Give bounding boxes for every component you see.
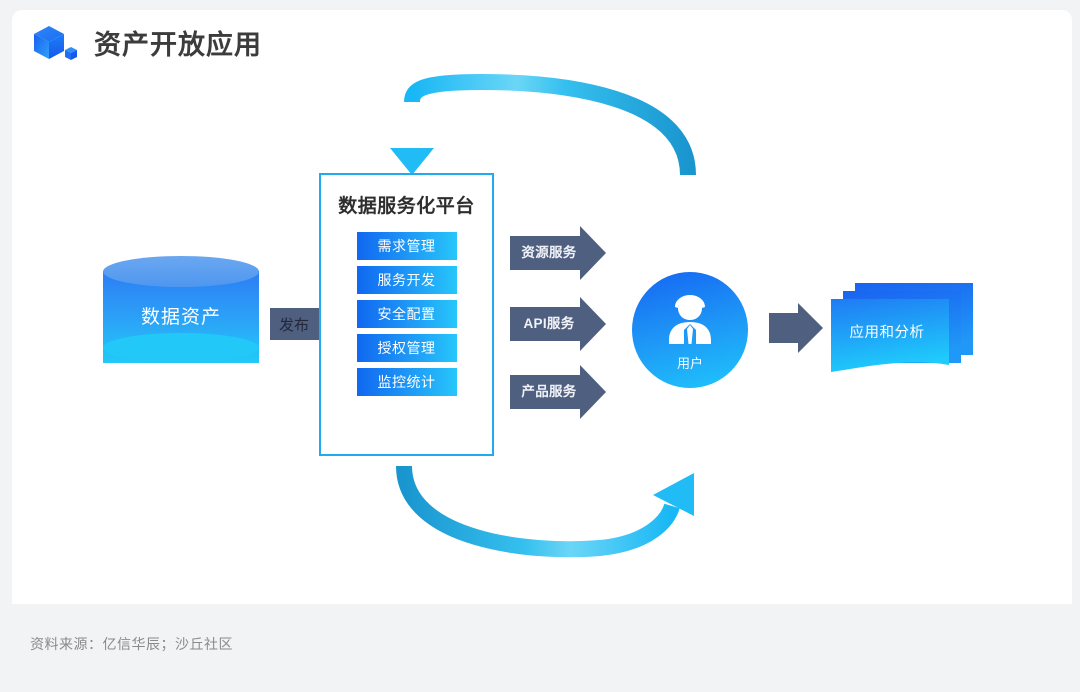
platform-item-security-config[interactable]: 安全配置 xyxy=(357,300,457,328)
platform-item-authorization[interactable]: 授权管理 xyxy=(357,334,457,362)
platform-item-monitoring[interactable]: 监控统计 xyxy=(357,368,457,396)
output-arrow-shape xyxy=(769,303,823,353)
service-arrow-api[interactable]: API服务 xyxy=(510,303,606,341)
source-footer: 资料来源：亿信华辰；沙丘社区 xyxy=(30,634,233,654)
application-stack-label: 应用和分析 xyxy=(823,321,951,342)
data-asset-label: 数据资产 xyxy=(103,302,259,329)
cylinder-bottom-ellipse xyxy=(103,333,259,363)
top-feedback-arc xyxy=(390,82,688,175)
platform-title: 数据服务化平台 xyxy=(321,191,492,218)
application-stack[interactable]: 应用和分析 xyxy=(823,281,973,371)
data-service-platform-box: 数据服务化平台 需求管理 服务开发 安全配置 授权管理 监控统计 xyxy=(319,173,494,456)
service-arrow-product[interactable]: 产品服务 xyxy=(510,371,606,409)
data-asset-cylinder: 数据资产 xyxy=(103,256,259,378)
service-arrow-label-resource: 资源服务 xyxy=(510,232,588,270)
service-arrow-label-product: 产品服务 xyxy=(510,371,588,409)
slide-page: 资产开放应用 xyxy=(0,0,1080,692)
platform-item-list: 需求管理 服务开发 安全配置 授权管理 监控统计 xyxy=(321,232,492,396)
platform-item-service-dev[interactable]: 服务开发 xyxy=(357,266,457,294)
bottom-feedback-arc xyxy=(404,466,694,549)
user-node[interactable]: 用户 xyxy=(632,272,748,388)
service-arrow-label-api: API服务 xyxy=(510,303,588,341)
cylinder-top-ellipse xyxy=(103,256,259,287)
platform-item-requirement[interactable]: 需求管理 xyxy=(357,232,457,260)
user-node-label: 用户 xyxy=(632,353,748,372)
user-person-icon xyxy=(662,294,718,346)
service-arrow-resource[interactable]: 资源服务 xyxy=(510,232,606,270)
